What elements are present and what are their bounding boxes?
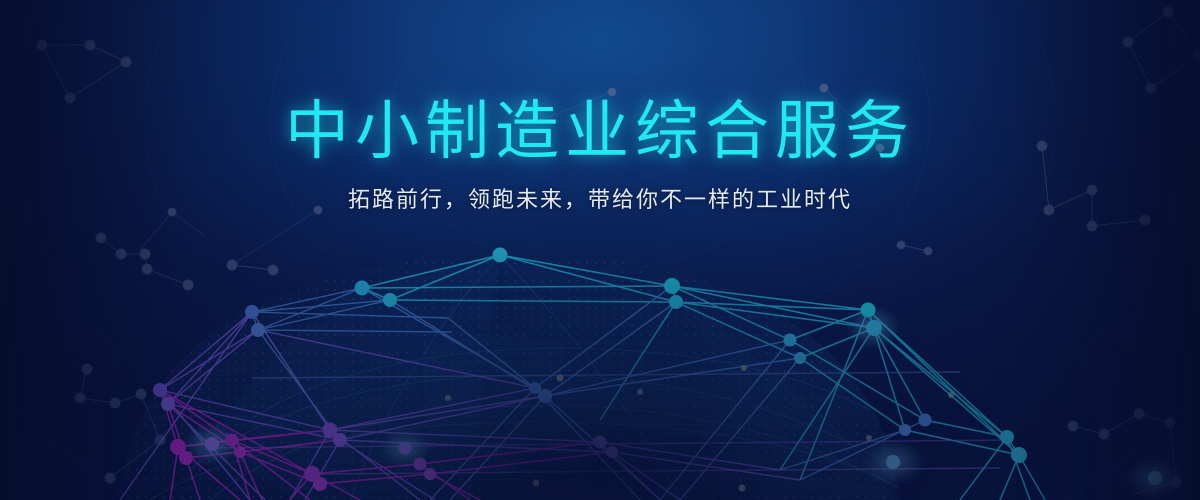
hero-text: 中小制造业综合服务 拓路前行，领跑未来，带给你不一样的工业时代 <box>0 96 1200 214</box>
background-vignette <box>0 0 1200 500</box>
page-title: 中小制造业综合服务 <box>0 96 1200 168</box>
page-subtitle: 拓路前行，领跑未来，带给你不一样的工业时代 <box>0 186 1200 215</box>
hero-banner: 中小制造业综合服务 拓路前行，领跑未来，带给你不一样的工业时代 <box>0 0 1200 500</box>
